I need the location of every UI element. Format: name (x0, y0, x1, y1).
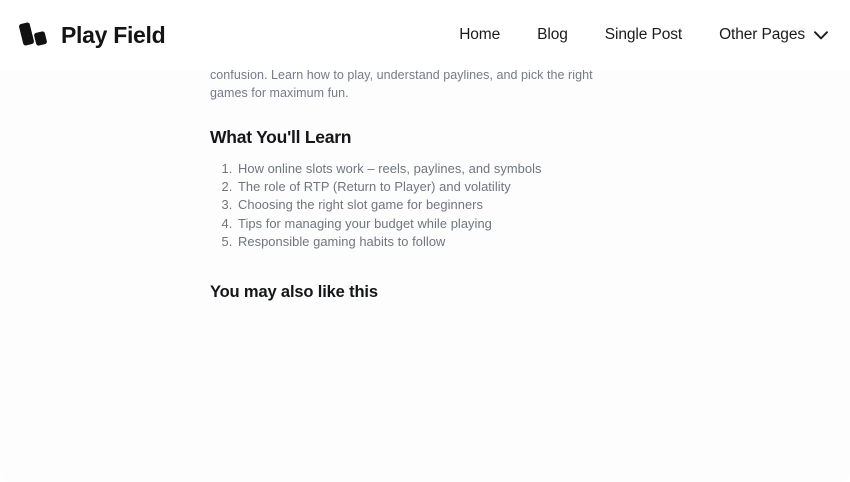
nav-item-other-pages[interactable]: Other Pages (719, 26, 828, 44)
what-youll-learn-list: How online slots work – reels, paylines,… (210, 160, 610, 251)
you-may-also-like-heading: You may also like this (210, 283, 610, 302)
nav-item-blog[interactable]: Blog (537, 26, 568, 44)
list-item: The role of RTP (Return to Player) and v… (236, 178, 610, 196)
page-root: Play Field Home Blog Single Post Other P… (0, 0, 850, 482)
nav-item-home[interactable]: Home (459, 26, 500, 44)
two-tilted-tiles-logo-icon (20, 21, 50, 49)
list-item: Responsible gaming habits to follow (236, 233, 610, 251)
brand-logo[interactable]: Play Field (20, 21, 165, 49)
list-item: Choosing the right slot game for beginne… (236, 196, 610, 214)
site-header: Play Field Home Blog Single Post Other P… (0, 0, 850, 70)
brand-name: Play Field (61, 24, 165, 47)
nav-item-other-pages-label: Other Pages (719, 26, 805, 44)
main-nav: Home Blog Single Post Other Pages (459, 26, 828, 44)
nav-item-single-post[interactable]: Single Post (605, 26, 682, 44)
what-youll-learn-heading: What You'll Learn (210, 127, 610, 148)
list-item: Tips for managing your budget while play… (236, 215, 610, 233)
chevron-down-icon (814, 31, 828, 40)
list-item: How online slots work – reels, paylines,… (236, 160, 610, 178)
